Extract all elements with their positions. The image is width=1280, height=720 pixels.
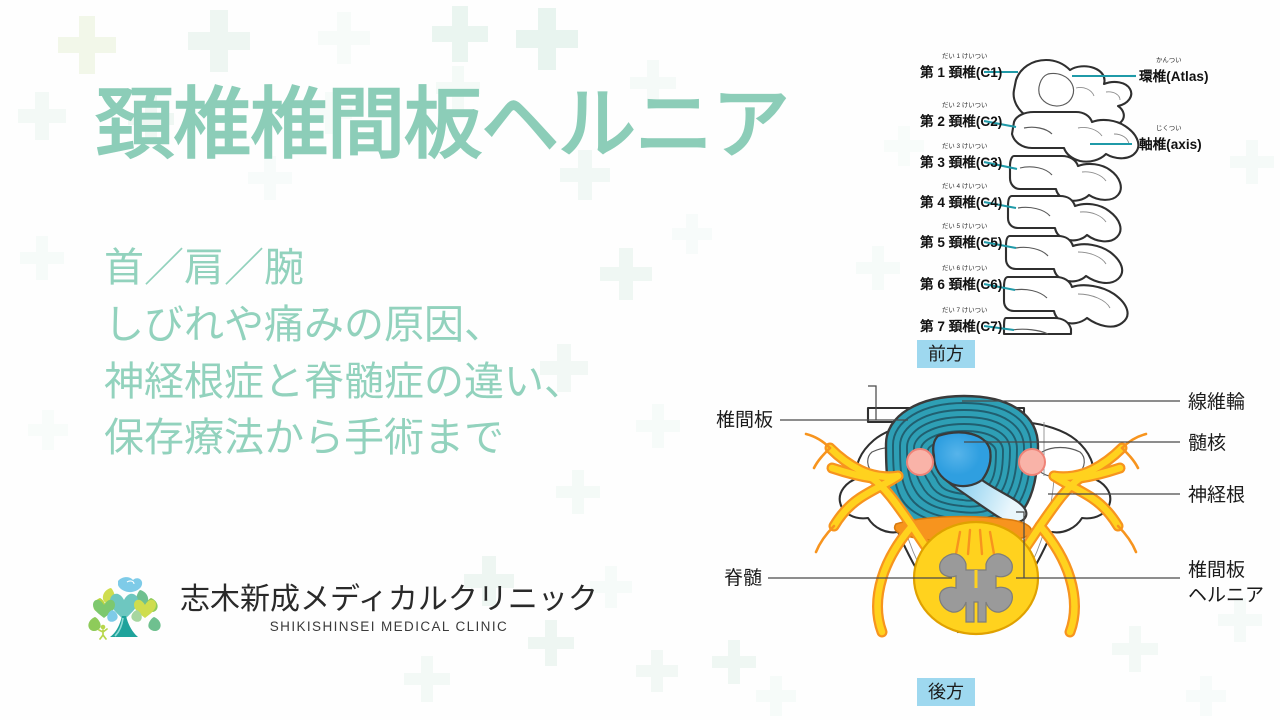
label-herniation-line2: ヘルニア <box>1188 585 1264 606</box>
c6-label: 第 6 頚椎(C6) <box>920 276 1002 292</box>
c5-label: 第 5 頚椎(C5) <box>920 234 1002 250</box>
c1-label: 第 1 頚椎(C1) <box>920 64 1002 80</box>
axis-label: 軸椎(axis) <box>1139 136 1202 152</box>
c6-ruby: だい 6 けいつい <box>942 264 987 272</box>
direction-anterior-label: 前方 <box>928 344 964 364</box>
vertebra-c5 <box>1006 236 1122 283</box>
spine-left-labels: だい 1 けいつい 第 1 頚椎(C1) だい 2 けいつい 第 2 頚椎(C2… <box>920 52 1002 334</box>
direction-posterior-label: 後方 <box>928 682 964 702</box>
vertebra-c4 <box>1008 196 1120 241</box>
decorative-cross-icon <box>318 12 370 64</box>
decorative-cross-icon <box>672 214 712 254</box>
logo-text-block: 志木新成メディカルクリニック SHIKISHINSEI MEDICAL CLIN… <box>180 583 598 634</box>
c1-ruby: だい 1 けいつい <box>942 52 987 60</box>
direction-posterior: 後方 <box>917 678 975 706</box>
c7-ruby: だい 7 けいつい <box>942 306 987 314</box>
c2-ruby: だい 2 けいつい <box>942 101 987 109</box>
c5-ruby: だい 5 けいつい <box>942 222 987 230</box>
direction-anterior: 前方 <box>917 340 975 368</box>
subtitle-line: 神経根症と脊髄症の違い、 <box>104 354 584 411</box>
c2-label: 第 2 頚椎(C2) <box>920 113 1002 129</box>
clinic-name-ja: 志木新成メディカルクリニック <box>180 583 598 616</box>
axial-left-labels: 椎間板 脊髄 <box>716 409 773 589</box>
decorative-cross-icon <box>856 246 900 290</box>
c4-ruby: だい 4 けいつい <box>942 182 987 190</box>
page-title: 頚椎椎間板ヘルニア <box>96 84 789 166</box>
decorative-cross-icon <box>404 656 450 702</box>
facet-joint-left <box>907 449 933 475</box>
atlas-label: 環椎(Atlas) <box>1139 68 1208 84</box>
subtitle-line: 保存療法から手術まで <box>104 410 584 467</box>
vertebra-c3 <box>1010 156 1121 201</box>
decorative-cross-icon <box>18 92 66 140</box>
label-herniation-line1: 椎間板 <box>1188 559 1245 581</box>
subtitle-line: しびれや痛みの原因、 <box>104 297 584 354</box>
axis-ruby: じくつい <box>1156 124 1182 132</box>
decorative-cross-icon <box>20 236 64 280</box>
decorative-cross-icon <box>884 126 924 166</box>
axial-vertebra-herniation-diagram: 前方 後方 <box>672 326 1280 718</box>
tree-with-heart-leaves-logo-icon <box>82 574 166 642</box>
decorative-cross-icon <box>432 6 488 62</box>
decorative-cross-icon <box>516 8 578 70</box>
subtitle-line: 首／肩／腕 <box>104 240 584 297</box>
decorative-cross-icon <box>188 10 250 72</box>
cervical-spine-lateral-diagram: だい 1 けいつい 第 1 頚椎(C1) だい 2 けいつい 第 2 頚椎(C2… <box>920 44 1280 334</box>
decorative-cross-icon <box>600 248 652 300</box>
atlas-ruby: かんつい <box>1156 56 1182 64</box>
slide-canvas: 頚椎椎間板ヘルニア 首／肩／腕 しびれや痛みの原因、 神経根症と脊髄症の違い、 … <box>0 0 1280 720</box>
c4-label: 第 4 頚椎(C4) <box>920 194 1002 210</box>
clinic-name-en: SHIKISHINSEI MEDICAL CLINIC <box>270 619 508 634</box>
label-disc: 椎間板 <box>716 409 773 431</box>
decorative-cross-icon <box>28 410 68 450</box>
c3-ruby: だい 3 けいつい <box>942 142 987 150</box>
subtitle-block: 首／肩／腕 しびれや痛みの原因、 神経根症と脊髄症の違い、 保存療法から手術まで <box>104 240 584 467</box>
c3-label: 第 3 頚椎(C3) <box>920 154 1002 170</box>
axial-right-labels: 線維輪 髄核 神経根 椎間板 ヘルニア <box>1188 391 1264 606</box>
facet-joint-right <box>1019 449 1045 475</box>
label-nucleus: 髄核 <box>1188 432 1226 454</box>
label-nerve-root: 神経根 <box>1188 484 1245 506</box>
clinic-logo: 志木新成メディカルクリニック SHIKISHINSEI MEDICAL CLIN… <box>82 574 598 642</box>
label-spinal-cord: 脊髄 <box>724 567 762 589</box>
decorative-cross-icon <box>556 470 600 514</box>
decorative-cross-icon <box>58 16 116 74</box>
spine-right-labels: かんつい 環椎(Atlas) じくつい 軸椎(axis) <box>1139 56 1208 152</box>
label-annulus: 線維輪 <box>1188 391 1245 413</box>
